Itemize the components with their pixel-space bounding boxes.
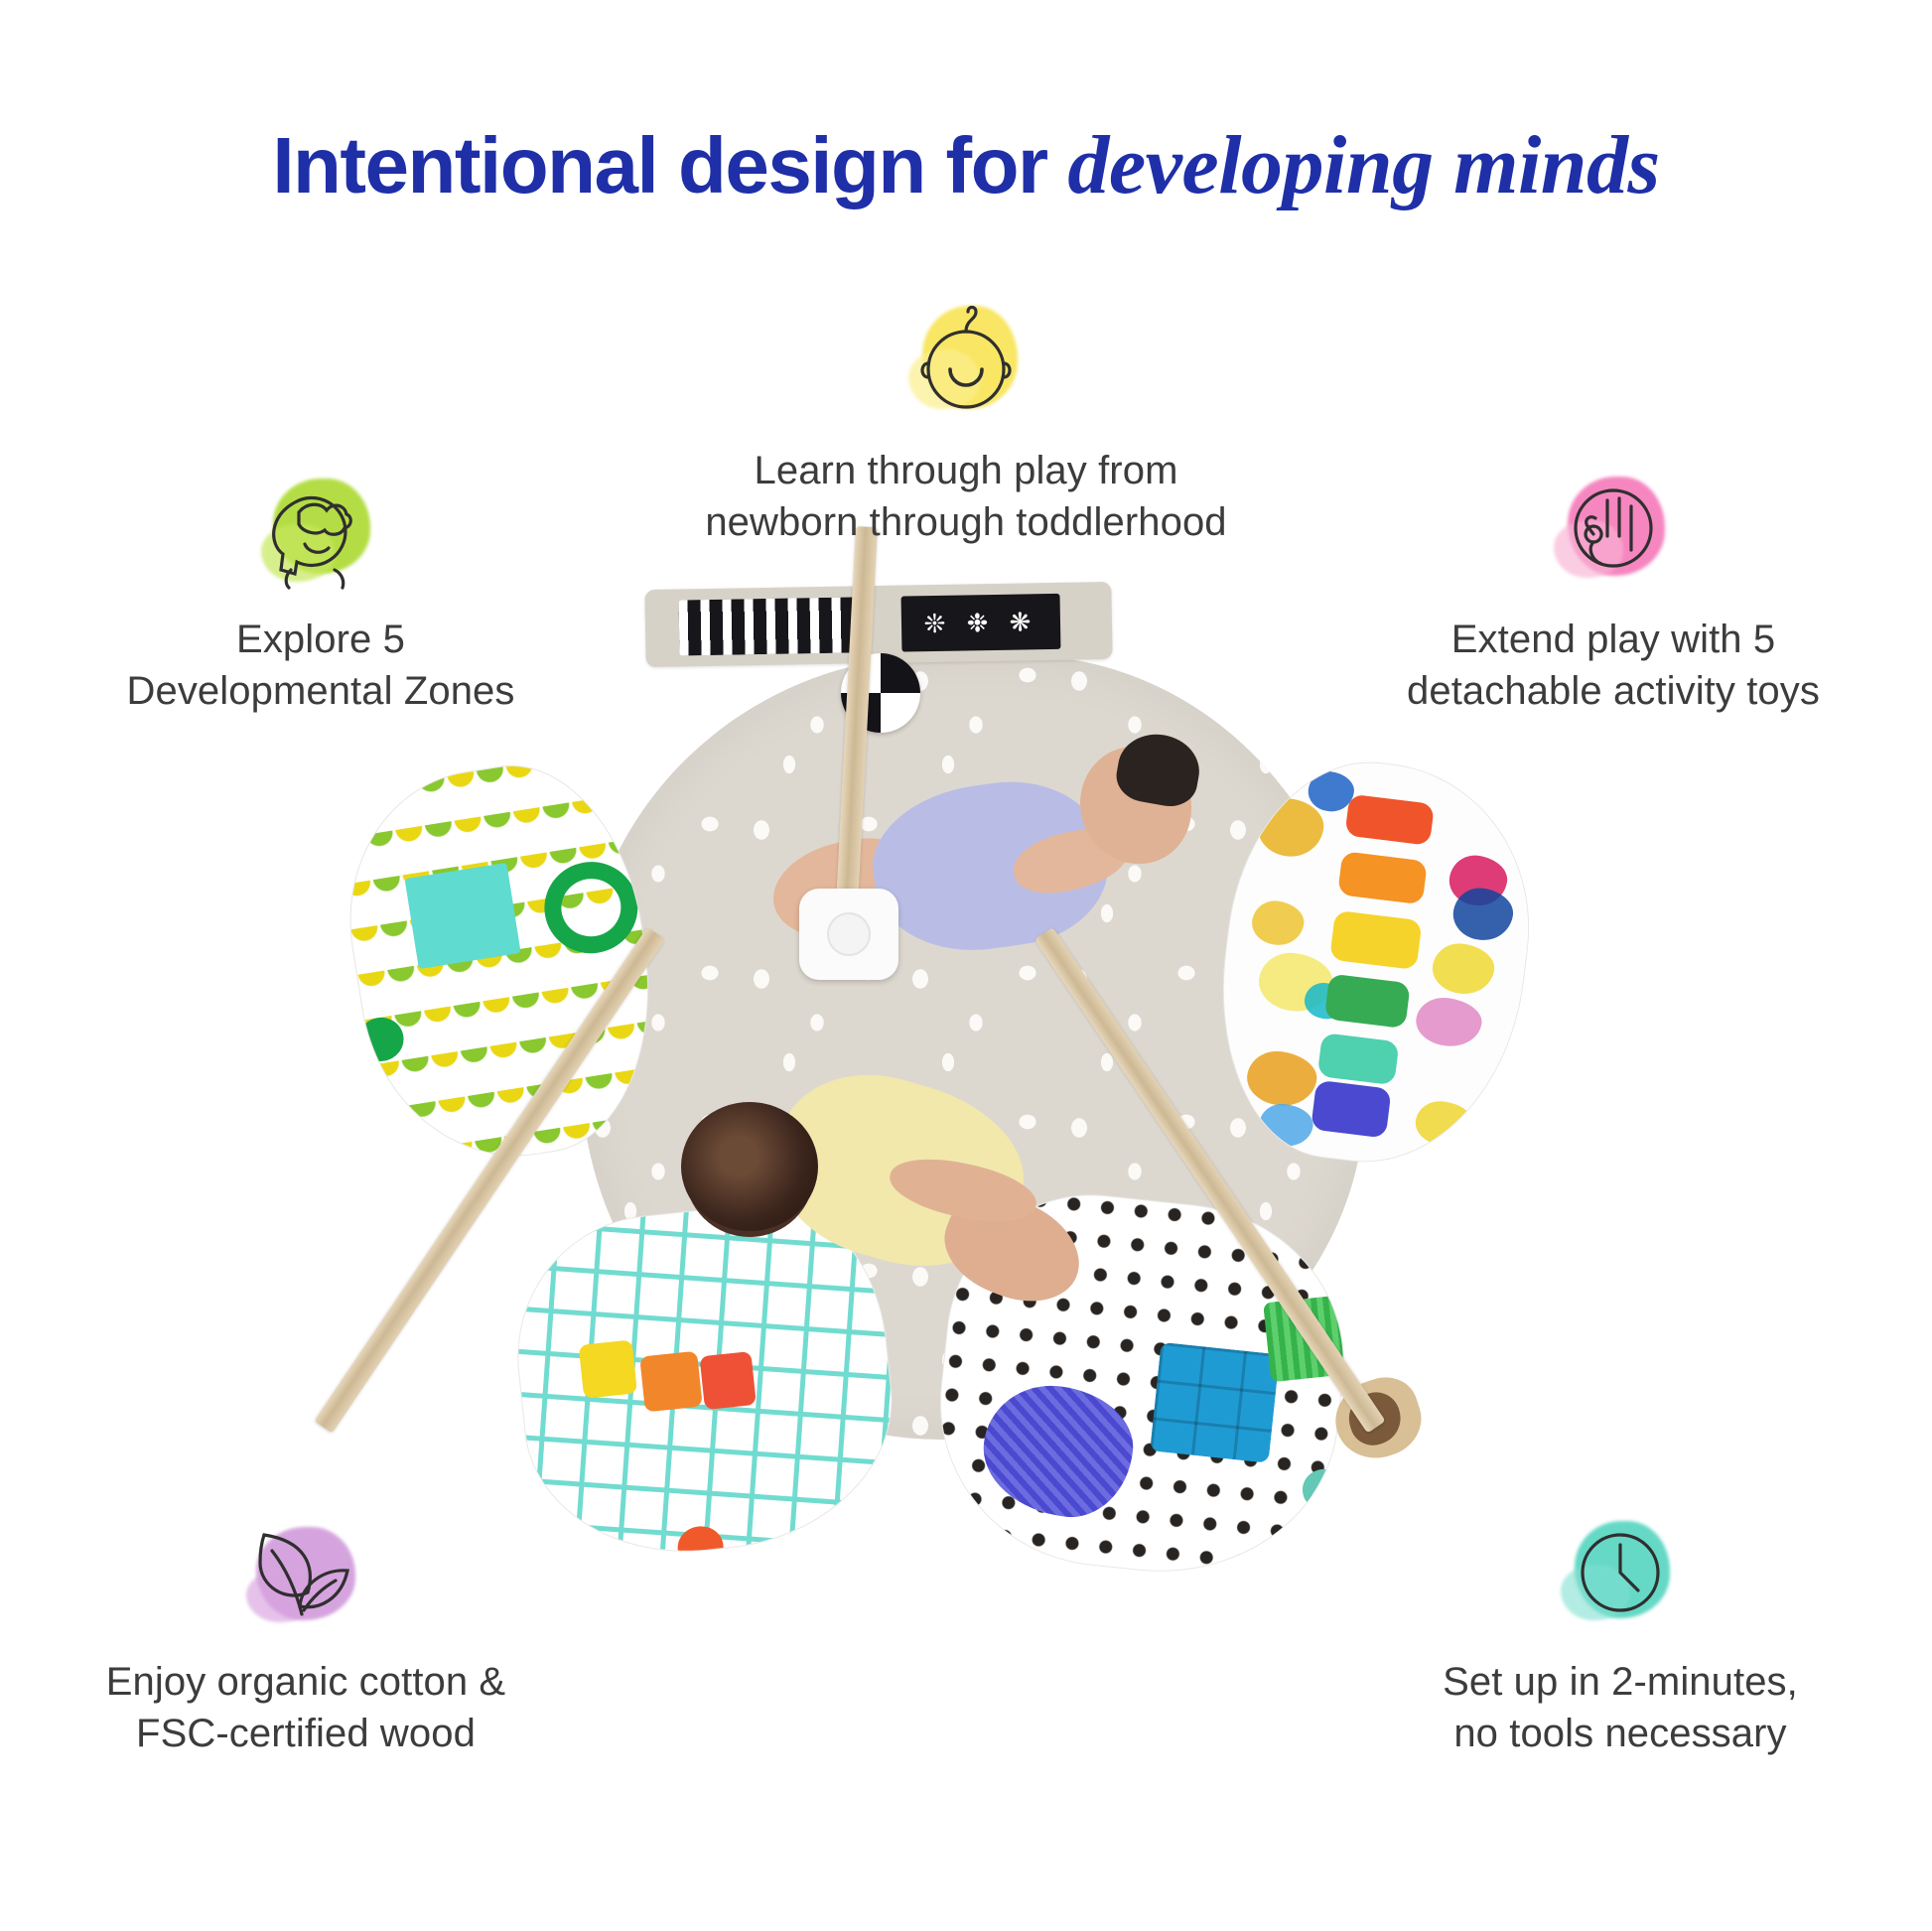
page-title-regular: Intentional design for xyxy=(272,121,1067,209)
color-swatch xyxy=(1311,1080,1392,1139)
feature-label: Enjoy organic cotton & FSC-certified woo… xyxy=(28,1656,584,1759)
paint-blotch xyxy=(1413,1098,1475,1149)
page-title-italic: developing minds xyxy=(1067,119,1659,211)
baby-bottom xyxy=(645,1052,1062,1449)
bw-wave-panel xyxy=(679,597,857,655)
color-swatch xyxy=(1329,910,1422,970)
feature-label: Extend play with 5 detachable activity t… xyxy=(1335,614,1891,717)
paint-blotch xyxy=(1244,1047,1319,1109)
clock-icon xyxy=(1555,1509,1686,1634)
color-swatch xyxy=(1344,794,1434,846)
head-brain-icon xyxy=(255,467,386,592)
paint-blotch xyxy=(1414,995,1484,1050)
feature-setup-time: Set up in 2-minutes, no tools necessary xyxy=(1342,1509,1898,1759)
color-swatch xyxy=(1324,974,1411,1030)
feature-learn-through-play: Learn through play from newborn through … xyxy=(589,298,1343,548)
arch-hub-connector xyxy=(799,889,898,980)
color-swatch xyxy=(1337,851,1428,904)
page-title: Intentional design for developing minds xyxy=(0,117,1932,213)
infographic-stage: Intentional design for developing minds xyxy=(0,0,1932,1931)
feature-label: Explore 5 Developmental Zones xyxy=(43,614,599,717)
baby-hair xyxy=(681,1102,818,1231)
feature-label: Set up in 2-minutes, no tools necessary xyxy=(1342,1656,1898,1759)
blue-ridged-cube-toy xyxy=(1150,1342,1280,1463)
paint-blotch xyxy=(1430,940,1497,997)
baby-face-icon xyxy=(900,298,1032,423)
feature-label: Learn through play from newborn through … xyxy=(589,445,1343,548)
leaf-icon xyxy=(240,1509,371,1634)
feature-detachable-toys: Extend play with 5 detachable activity t… xyxy=(1335,467,1891,717)
mirror-square xyxy=(405,863,521,969)
feature-developmental-zones: Explore 5 Developmental Zones xyxy=(43,467,599,717)
color-swatch xyxy=(1317,1033,1400,1085)
feature-organic-materials: Enjoy organic cotton & FSC-certified woo… xyxy=(28,1509,584,1759)
yellow-cube-toy xyxy=(579,1339,637,1398)
paint-blotch xyxy=(1250,898,1307,948)
bw-leaf-panel: ❊ ❉ ❋ xyxy=(901,594,1061,652)
hand-in-circle-icon xyxy=(1548,467,1679,592)
